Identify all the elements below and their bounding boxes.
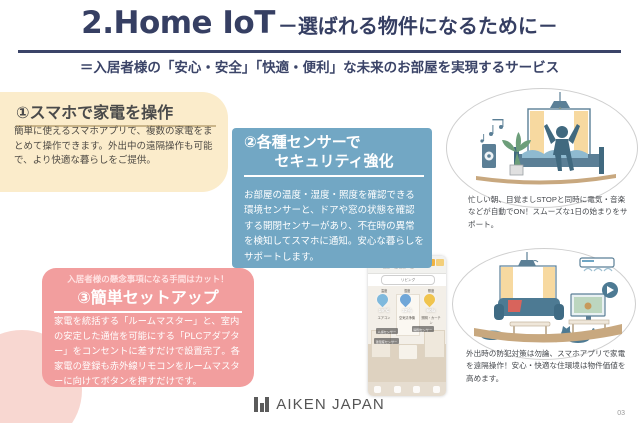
logo-bar	[260, 403, 264, 412]
sensor-note-temperature: エアコン	[373, 315, 395, 320]
home-icon[interactable]	[374, 386, 381, 393]
feature-card-1: ①スマホで家電を操作 簡単に使えるスマホアプリで、複数の家電をまとめて操作できま…	[0, 92, 228, 192]
sensor-drop-illuminance[interactable]	[424, 294, 437, 307]
feature-card-2-body: お部屋の温度・湿度・照度を確認できる環境センサーと、ドアや窓の状態を確認する開閉…	[244, 188, 424, 265]
sensor-drop-temperature[interactable]	[377, 294, 390, 307]
aiken-logo-icon	[254, 397, 269, 412]
sensor-note-illuminance: 照明・カーテン	[420, 315, 442, 325]
slide-page: 2.Home IoT －選ばれる物件になるために－ ＝入居者様の「安心・安全」「…	[0, 0, 639, 423]
devices-icon[interactable]	[394, 386, 401, 393]
feature-card-3-body: 家電を統括する「ルームマスター」と、室内の安定した通信を可能にする「PLCアダプ…	[54, 314, 244, 389]
tag-open-close-sensor[interactable]: 開閉センサー	[412, 326, 434, 332]
tag-temp-humidity-sensor[interactable]: 温湿度センサー	[374, 338, 399, 344]
chip-icon	[436, 259, 444, 266]
tag-motion-sensor[interactable]: 人感センサー	[376, 328, 398, 334]
scene-icon[interactable]	[413, 386, 420, 393]
sensor-value-illuminance: 60lx	[420, 308, 442, 313]
room-view: 温度 19℃ エアコン 湿度 32％ 空気清浄機 照度 60lx 照明・カーテン…	[368, 286, 446, 382]
caption-living: 外出時の防犯対策は勿論、スマホアプリで家電を遠隔操作！安心・快適な住環境は物件価…	[466, 348, 630, 385]
sensor-label-temperature: 温度	[373, 288, 395, 293]
feature-card-2: ②各種センサーで セキュリティ強化 お部屋の温度・湿度・照度を確認できる環境セン…	[232, 128, 432, 268]
feature-card-3: 入居者様の懸念事項になる手間はカット！ ③簡単セットアップ 家電を統括する「ルー…	[42, 268, 254, 387]
phone-mockup[interactable]: 6/10(金) 晴れ 最高 28度 最低 19度 リビング 温度 19℃ エアコ…	[368, 256, 446, 396]
title-divider	[18, 50, 621, 53]
sensor-note-humidity: 空気清浄機	[396, 315, 418, 320]
feature-card-1-heading: ①スマホで家電を操作	[16, 99, 216, 127]
feature-card-1-body: 簡単に使えるスマホアプリで、複数の家電をまとめて操作できます。外出中の遠隔操作も…	[14, 125, 216, 169]
bedroom-illustration	[470, 92, 622, 192]
feature-card-2-heading: ②各種センサーで セキュリティ強化	[244, 134, 424, 177]
sensor-label-illuminance: 照度	[420, 288, 442, 293]
sensor-label-humidity: 湿度	[396, 288, 418, 293]
sensor-value-humidity: 32％	[396, 308, 418, 314]
feature-card-3-heading: ③簡単セットアップ	[54, 284, 242, 313]
living-room-illustration	[470, 252, 626, 348]
title-row: 2.Home IoT －選ばれる物件になるために－	[0, 0, 639, 39]
page-number: 03	[617, 410, 625, 417]
footer-logo: AIKEN JAPAN	[0, 396, 639, 413]
page-subtitle: －選ばれる物件になるために－	[278, 17, 558, 37]
logo-bar	[254, 397, 258, 412]
phone-bottom-nav[interactable]	[368, 382, 446, 396]
slide-header: 2.Home IoT －選ばれる物件になるために－ ＝入居者様の「安心・安全」「…	[0, 0, 639, 39]
room-selector[interactable]: リビング	[381, 275, 435, 285]
logo-text: AIKEN JAPAN	[276, 396, 385, 413]
room-furniture	[398, 344, 418, 360]
page-title: 2.Home IoT	[81, 8, 275, 39]
sensor-drop-humidity[interactable]	[400, 294, 413, 307]
sensor-value-temperature: 19℃	[373, 308, 395, 314]
lead-text: ＝入居者様の「安心・安全」「快適・便利」な未来のお部屋を実現するサービス	[0, 56, 639, 76]
logo-bar	[265, 397, 269, 412]
feature-card-2-heading-line2: セキュリティ強化	[244, 153, 424, 172]
room-furniture	[371, 330, 391, 358]
caption-bedroom: 忙しい朝、目覚ましSTOPと同時に電気・音楽などが自動でON！スムーズな1日の始…	[468, 194, 628, 231]
feature-card-2-heading-line1: ②各種センサーで	[244, 134, 361, 151]
settings-icon[interactable]	[433, 386, 440, 393]
room-furniture	[424, 330, 445, 358]
